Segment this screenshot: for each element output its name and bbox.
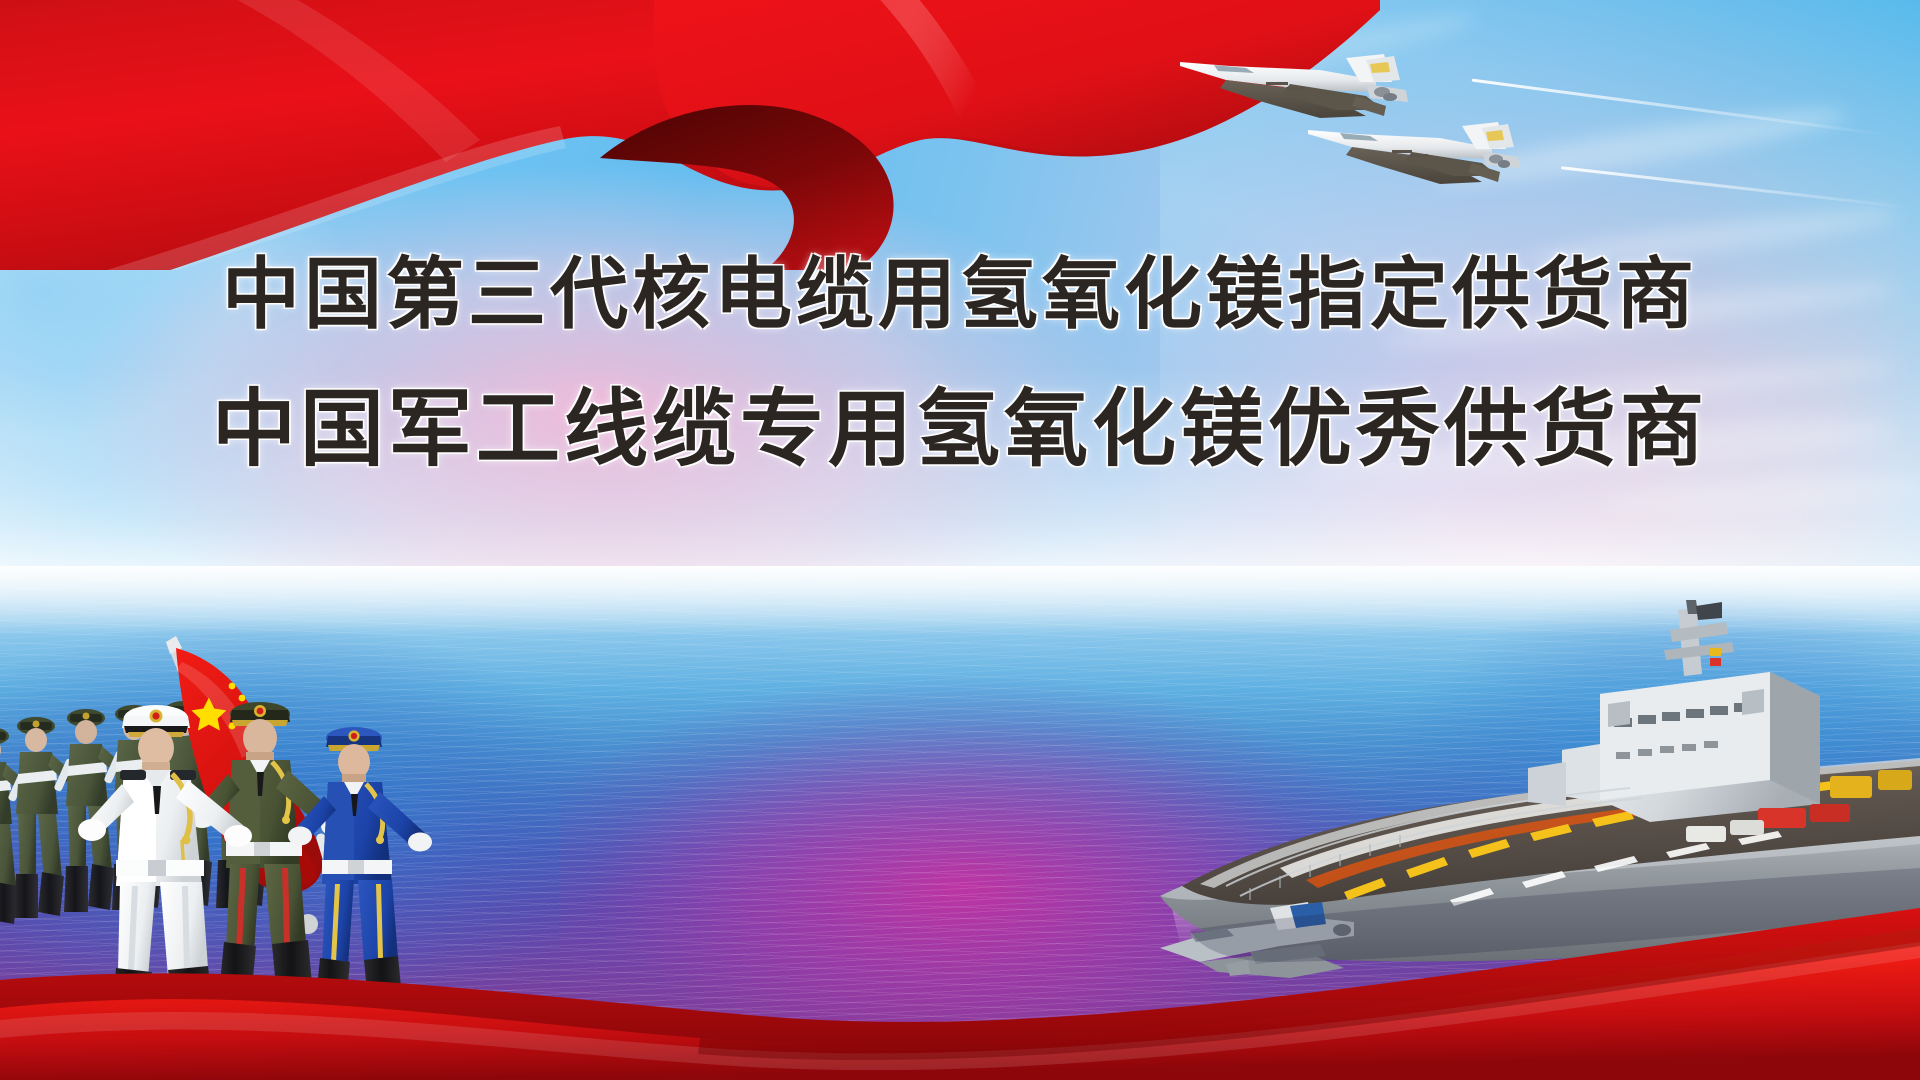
title-line-2: 中国军工线缆专用氢氧化镁优秀供货商 <box>0 375 1920 484</box>
red-carpet <box>0 850 1920 1080</box>
title-block: 中国第三代核电缆用氢氧化镁指定供货商 中国军工线缆专用氢氧化镁优秀供货商 <box>0 244 1920 485</box>
title-line-1: 中国第三代核电缆用氢氧化镁指定供货商 <box>0 244 1920 345</box>
fighter-jet <box>1300 108 1520 194</box>
banner-canvas: 中国第三代核电缆用氢氧化镁指定供货商 中国军工线缆专用氢氧化镁优秀供货商 <box>0 0 1920 1080</box>
